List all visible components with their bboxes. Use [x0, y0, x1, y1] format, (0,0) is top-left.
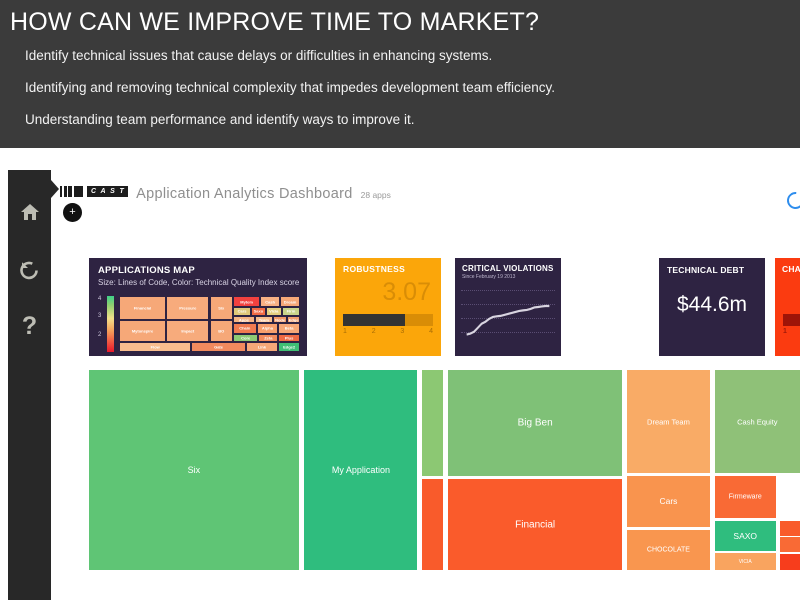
applications-map-tile[interactable]: Gate	[191, 342, 245, 352]
applications-map-tile[interactable]: Vicia	[266, 307, 282, 315]
applications-map-tile-label: Vicia	[267, 309, 281, 314]
applications-map-tile-label: Six	[211, 305, 233, 310]
color-scale-bar	[107, 296, 114, 352]
treemap-tile[interactable]: Financial	[448, 479, 622, 570]
treemap-tile[interactable]: Cars	[627, 476, 709, 527]
treemap-tile[interactable]: Dream Team	[627, 370, 709, 473]
rail-active-notch	[51, 180, 59, 198]
applications-map-tile[interactable]: Edge2	[278, 342, 300, 352]
slide-page: HOW CAN WE IMPROVE TIME TO MARKET? Ident…	[0, 0, 800, 600]
applications-map-tile[interactable]: Dream	[280, 296, 300, 307]
treemap-tile[interactable]: CHOCOLATE	[627, 530, 709, 570]
applications-map-tile-label: Cash	[261, 299, 279, 304]
bullet-item: Identify technical issues that cause del…	[25, 48, 775, 63]
applications-map-tile[interactable]: Saxo	[251, 307, 265, 315]
critical-violations-sparkline	[461, 284, 555, 350]
applications-map-tile[interactable]: Mytonspire	[119, 320, 166, 342]
cast-logo-icon: C A S T	[60, 186, 128, 197]
applications-map-tile[interactable]: Flow	[119, 342, 191, 352]
applications-map-tile-label: Beta	[279, 326, 299, 331]
treemap-tile-label: Big Ben	[450, 418, 620, 429]
treemap-tile-label: Six	[91, 465, 297, 475]
card-applications-map[interactable]: APPLICATIONS MAP Size: Lines of Code, Co…	[89, 258, 307, 356]
card-title: CHANGEABILITY	[775, 258, 800, 274]
card-title: APPLICATIONS MAP	[89, 258, 307, 276]
treemap-tile[interactable]	[780, 537, 800, 552]
card-subtitle: Size: Lines of Code, Color: Technical Qu…	[89, 276, 307, 288]
treemap-tile-label: VICIA	[717, 559, 774, 565]
gauge-fill	[783, 314, 800, 326]
applications-map-tile[interactable]: Pressure	[166, 296, 209, 320]
applications-map-tile[interactable]: Team	[255, 316, 273, 324]
add-app-button[interactable]: +	[63, 203, 82, 222]
treemap-tile-label: SAXO	[717, 531, 774, 541]
gauge-tick: 1	[343, 328, 347, 335]
applications-map-tile-label: Link	[247, 344, 278, 349]
applications-map-tile-label: Team	[256, 317, 272, 322]
apps-count-badge: 28 apps	[361, 190, 391, 200]
bullet-list: Identify technical issues that cause del…	[25, 48, 775, 144]
applications-map-tile-label: Node	[274, 317, 286, 322]
changeability-gauge-ticks: 1 2 3 4	[783, 328, 800, 335]
technical-debt-value: $44.6m	[659, 294, 765, 315]
treemap-tile[interactable]: VICIA	[715, 553, 776, 570]
treemap-tile[interactable]	[780, 554, 800, 570]
gauge-tick: 1	[783, 328, 787, 335]
applications-map-tile-label: Mytonspire	[120, 328, 165, 333]
gauge-fill	[343, 314, 405, 326]
applications-map-tile[interactable]: Financial	[119, 296, 166, 320]
gauge-tick: 3	[400, 328, 404, 335]
home-icon[interactable]	[8, 196, 51, 228]
applications-map-tile-label: Pressure	[167, 305, 208, 310]
refresh-circle-icon[interactable]	[784, 189, 800, 213]
scale-label: 4	[98, 296, 101, 302]
treemap-tile-label: Financial	[450, 519, 620, 530]
bullet-item: Understanding team performance and ident…	[25, 112, 775, 127]
dashboard-screenshot: ? C A S T Application Analytics Dashboar…	[0, 152, 800, 600]
applications-map-tile[interactable]: Impact	[166, 320, 209, 342]
robustness-gauge	[343, 314, 433, 326]
treemap-tile[interactable]: Big Ben	[448, 370, 622, 476]
applications-map-tile-label: Core	[234, 335, 257, 340]
treemap-tile-label: Dream Team	[629, 417, 707, 426]
applications-map-tile-label: Impact	[167, 328, 208, 333]
applications-map-tile[interactable]: Zeta	[258, 334, 278, 342]
treemap-tile-label: Cash Equity	[717, 417, 798, 426]
applications-map-tile[interactable]: Cars	[233, 307, 251, 315]
applications-map-tile[interactable]: Apps	[233, 316, 255, 324]
applications-map-tile[interactable]: Edge	[287, 316, 300, 324]
applications-treemap: FinancialPressureSixMytemCashDreamCarsSa…	[119, 296, 300, 352]
scale-label: 2	[98, 332, 101, 338]
applications-map-plot: 4 3 2 FinancialPressureSixMytemCashDream…	[98, 296, 300, 352]
applications-map-tile[interactable]: Firm	[282, 307, 300, 315]
treemap-tile-label: Firmeware	[717, 493, 774, 500]
bullet-item: Identifying and removing technical compl…	[25, 80, 775, 95]
treemap-tile-label: CHOCOLATE	[629, 546, 707, 553]
treemap-tile-label: Cars	[629, 496, 707, 506]
card-subtitle: Since February 19 2013	[455, 273, 561, 280]
applications-map-tile-label: Financial	[120, 305, 165, 310]
applications-map-tile-label: Alpha	[258, 326, 278, 331]
applications-map-tile[interactable]: Link	[246, 342, 279, 352]
treemap-tile-label: My Application	[306, 465, 415, 475]
card-title: CRITICAL VIOLATIONS	[455, 258, 561, 273]
applications-map-tile[interactable]: Node	[273, 316, 287, 324]
cast-logo-text: C A S T	[87, 186, 128, 197]
robustness-gauge-ticks: 1 2 3 4	[343, 328, 433, 335]
applications-map-tile[interactable]: Chain	[233, 323, 257, 333]
gauge-tick: 4	[429, 328, 433, 335]
applications-map-tile[interactable]: BO	[210, 320, 234, 342]
applications-map-tile-label: BO	[211, 328, 233, 333]
applications-map-tile[interactable]: Mytem	[233, 296, 260, 307]
card-critical-violations[interactable]: CRITICAL VIOLATIONS Since February 19 20…	[455, 258, 561, 356]
applications-map-tile-label: Gate	[192, 344, 244, 349]
page-title: HOW CAN WE IMPROVE TIME TO MARKET?	[10, 8, 539, 37]
applications-map-tile[interactable]: Six	[210, 296, 234, 320]
applications-treemap-main[interactable]: SixMy ApplicationBig BenFinancialDream T…	[89, 370, 800, 600]
treemap-tile[interactable]	[422, 479, 443, 570]
applications-map-tile-label: Flow	[120, 344, 190, 349]
applications-map-tile-label: Chain	[234, 326, 256, 331]
treemap-tile[interactable]: My Application	[304, 370, 417, 570]
applications-map-tile[interactable]: Plus	[278, 334, 300, 342]
dashboard-title: Application Analytics Dashboard	[136, 186, 352, 202]
applications-map-tile-label: Edge	[288, 317, 299, 322]
applications-map-tile-label: Dream	[281, 299, 299, 304]
treemap-tile[interactable]: Six	[89, 370, 299, 570]
card-title: TECHNICAL DEBT	[659, 258, 765, 275]
treemap-tile[interactable]	[780, 521, 800, 536]
gauge-tick: 2	[372, 328, 376, 335]
treemap-tile[interactable]	[422, 370, 443, 476]
question-mark-icon[interactable]: ?	[8, 310, 51, 342]
left-nav-rail: ?	[8, 170, 51, 600]
card-changeability[interactable]: CHANGEABILITY 2.85 1 2 3 4	[775, 258, 800, 356]
treemap-tile[interactable]: Firmeware	[715, 476, 776, 518]
applications-map-tile[interactable]: Beta	[278, 323, 300, 333]
scale-label: 3	[98, 313, 101, 319]
card-robustness[interactable]: ROBUSTNESS 3.07 1 2 3 4	[335, 258, 441, 356]
treemap-tile[interactable]: Cash Equity	[715, 370, 800, 473]
treemap-tile[interactable]: SAXO	[715, 521, 776, 551]
changeability-gauge	[783, 314, 800, 326]
slide-banner: HOW CAN WE IMPROVE TIME TO MARKET? Ident…	[0, 0, 800, 148]
applications-map-tile[interactable]: Alpha	[257, 323, 279, 333]
applications-map-tile[interactable]: Cash	[260, 296, 280, 307]
applications-map-tile-label: Mytem	[234, 299, 259, 304]
applications-map-tile-label: Saxo	[252, 309, 264, 314]
dashboard-header: C A S T Application Analytics Dashboard …	[60, 186, 391, 212]
applications-map-tile-label: Plus	[279, 335, 299, 340]
card-title: ROBUSTNESS	[335, 258, 441, 274]
applications-map-tile-label: Apps	[234, 317, 254, 322]
applications-map-tile-label: Firm	[283, 309, 299, 314]
robustness-value: 3.07	[382, 280, 431, 305]
applications-map-tile-label: Edge2	[279, 344, 299, 349]
applications-map-tile-label: Zeta	[259, 335, 277, 340]
applications-map-tile-label: Cars	[234, 309, 250, 314]
card-technical-debt[interactable]: TECHNICAL DEBT $44.6m	[659, 258, 765, 356]
applications-map-tile[interactable]: Core	[233, 334, 258, 342]
quality-color-scale: 4 3 2	[98, 296, 117, 352]
undo-arrow-icon[interactable]	[8, 254, 51, 286]
